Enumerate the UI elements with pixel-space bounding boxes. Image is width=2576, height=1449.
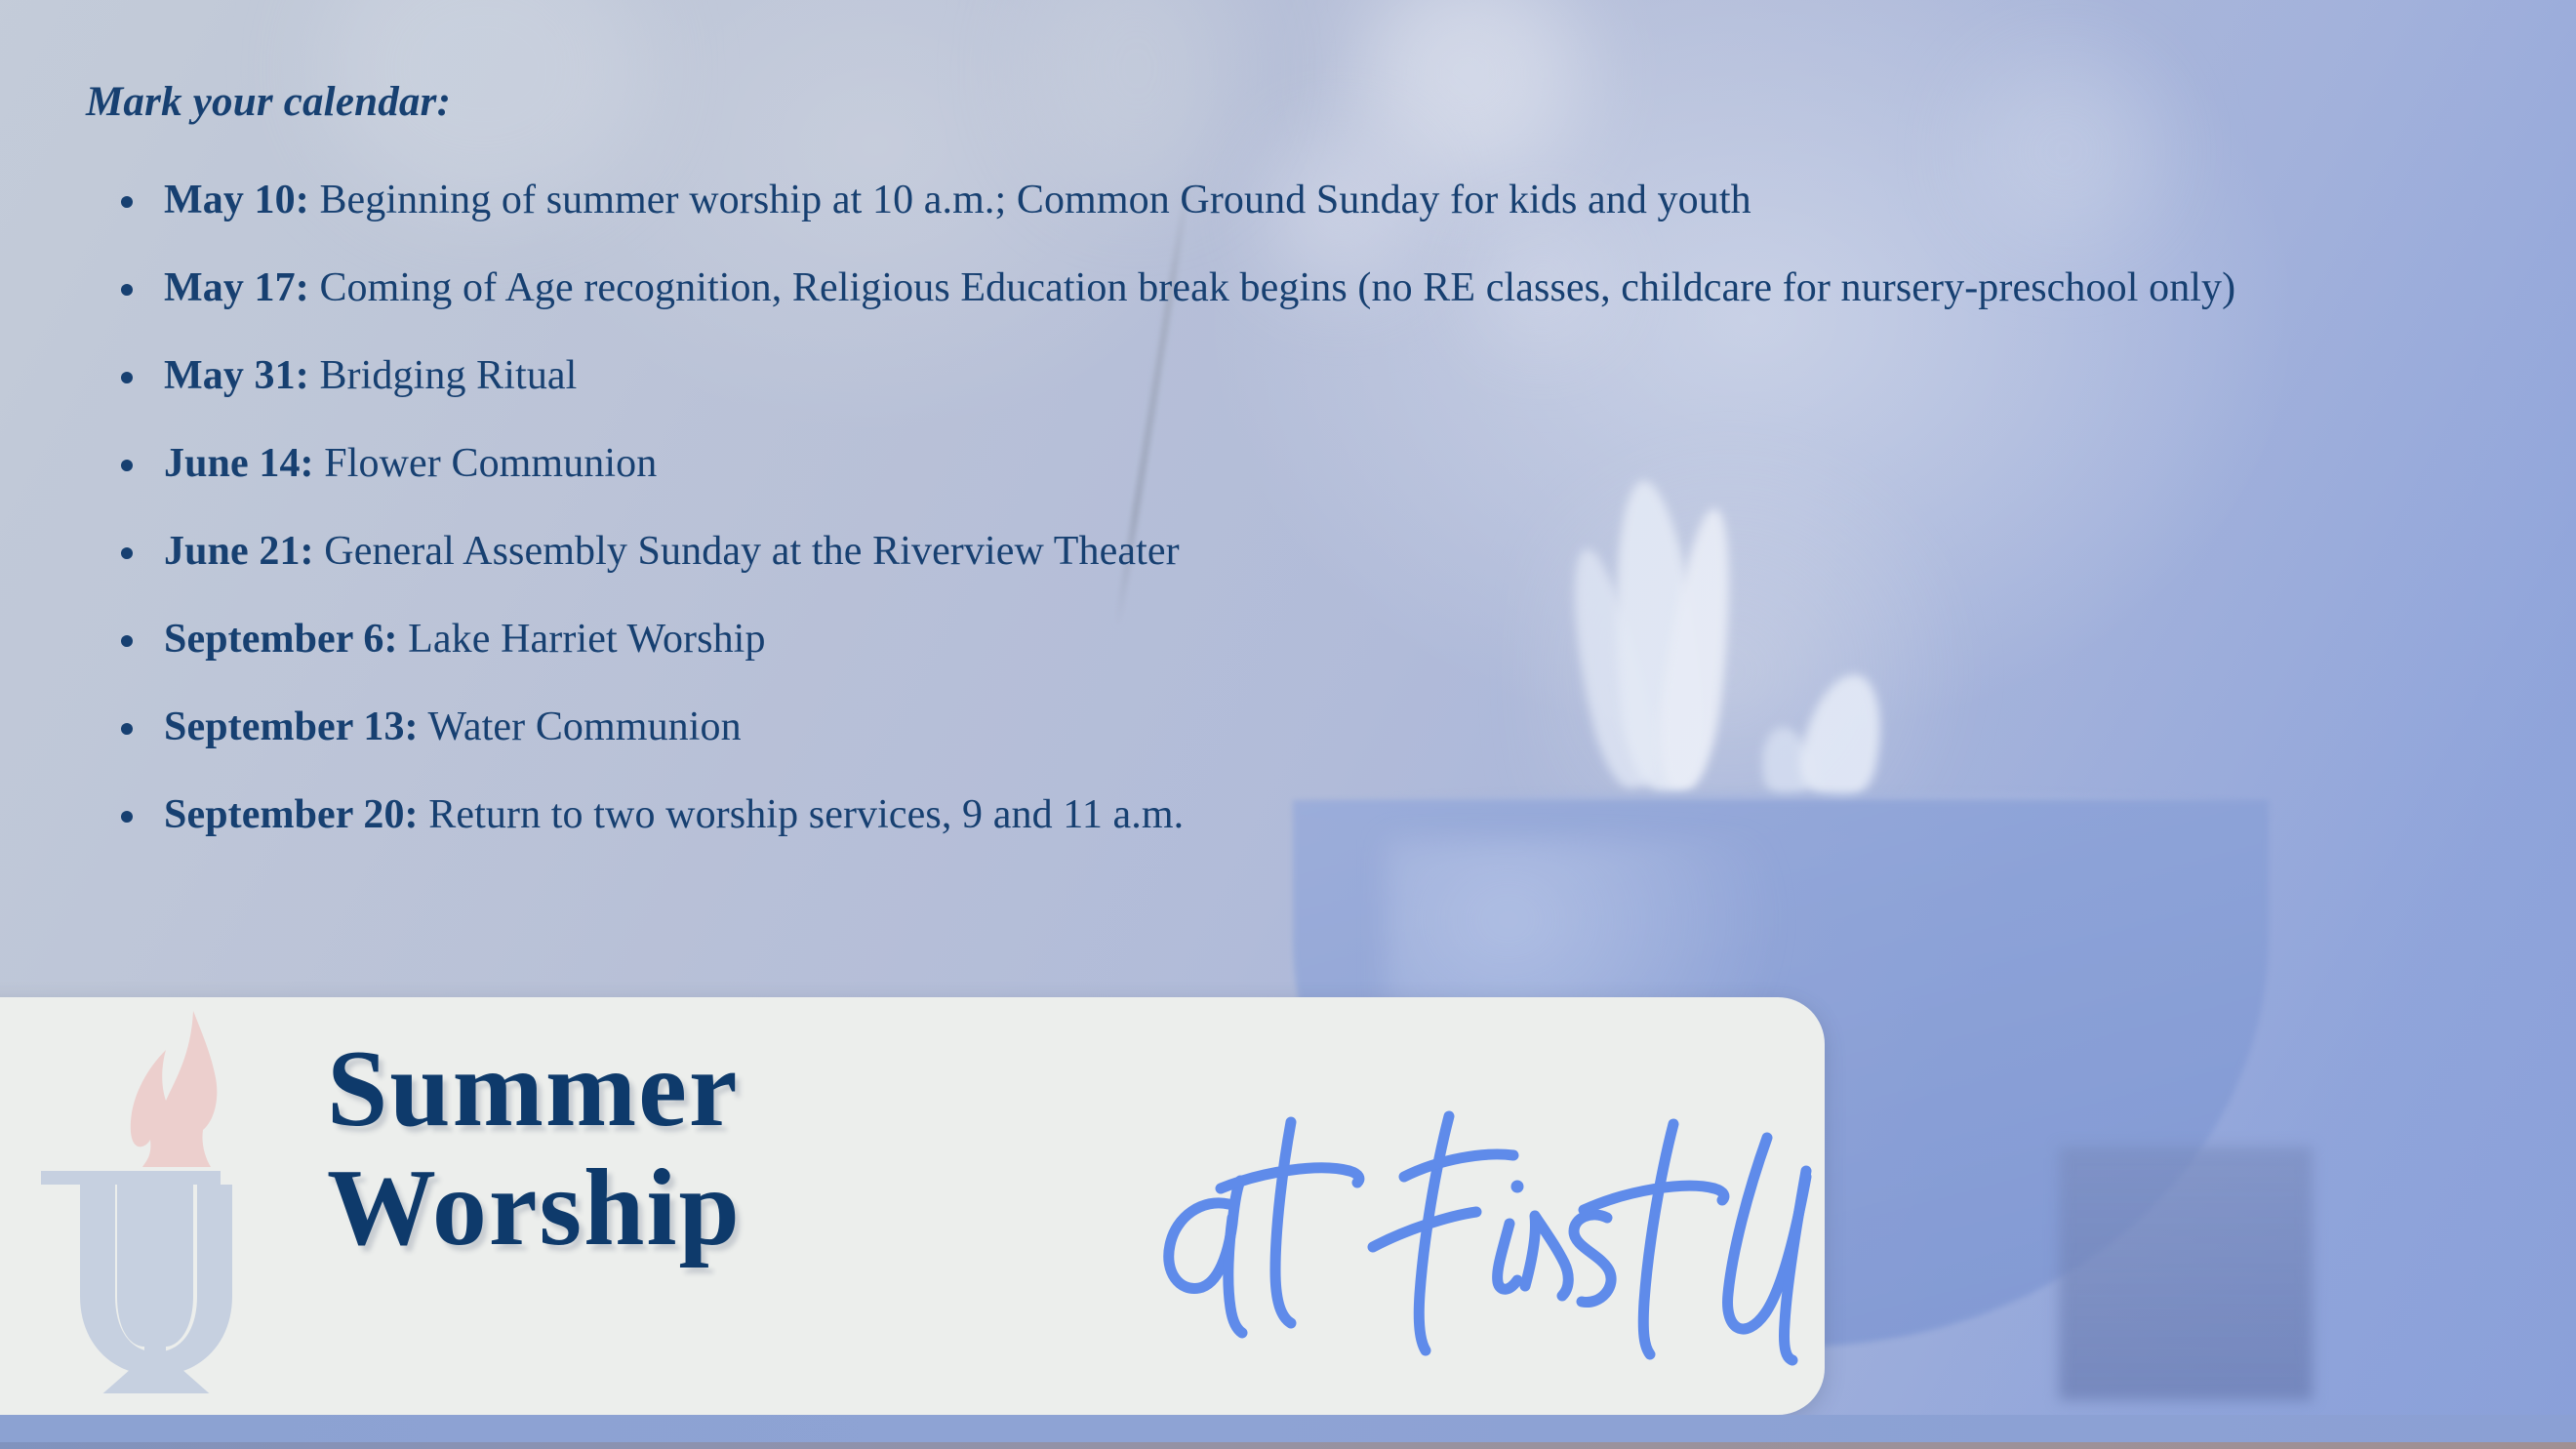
item-date: September 20: [164, 792, 419, 837]
item-date: May 31: [164, 353, 309, 398]
item-detail: General Assembly Sunday at the Riverview… [324, 529, 1179, 574]
list-item: June 14: Flower Communion [164, 420, 2408, 507]
item-date: May 10: [164, 178, 309, 222]
item-detail: Lake Harriet Worship [408, 617, 765, 662]
item-detail: Beginning of summer worship at 10 a.m.; … [319, 178, 1751, 222]
bottom-edge-line [0, 1442, 2576, 1449]
item-detail: Bridging Ritual [319, 353, 577, 398]
item-detail: Return to two worship services, 9 and 11… [428, 792, 1184, 837]
item-date: June 21: [164, 529, 314, 574]
script-at-first-u [1127, 1062, 1898, 1364]
item-date: May 17: [164, 265, 309, 310]
item-date: September 6: [164, 617, 398, 662]
list-item: May 10: Beginning of summer worship at 1… [164, 156, 2408, 244]
list-item: September 20: Return to two worship serv… [164, 771, 2408, 859]
item-detail: Flower Communion [324, 441, 657, 486]
list-item: September 6: Lake Harriet Worship [164, 595, 2408, 683]
item-date: September 13: [164, 704, 419, 749]
item-detail: Coming of Age recognition, Religious Edu… [319, 265, 2235, 310]
list-item: June 21: General Assembly Sunday at the … [164, 507, 2408, 595]
list-item: September 13: Water Communion [164, 683, 2408, 771]
slide-canvas: Mark your calendar: May 10: Beginning of… [0, 0, 2576, 1449]
calendar-list: May 10: Beginning of summer worship at 1… [105, 156, 2408, 859]
calendar-kicker: Mark your calendar: [86, 81, 451, 123]
list-item: May 31: Bridging Ritual [164, 332, 2408, 420]
flaming-chalice-icon [20, 1003, 283, 1393]
item-detail: Water Communion [428, 704, 742, 749]
item-date: June 14: [164, 441, 314, 486]
list-item: May 17: Coming of Age recognition, Relig… [164, 244, 2408, 332]
